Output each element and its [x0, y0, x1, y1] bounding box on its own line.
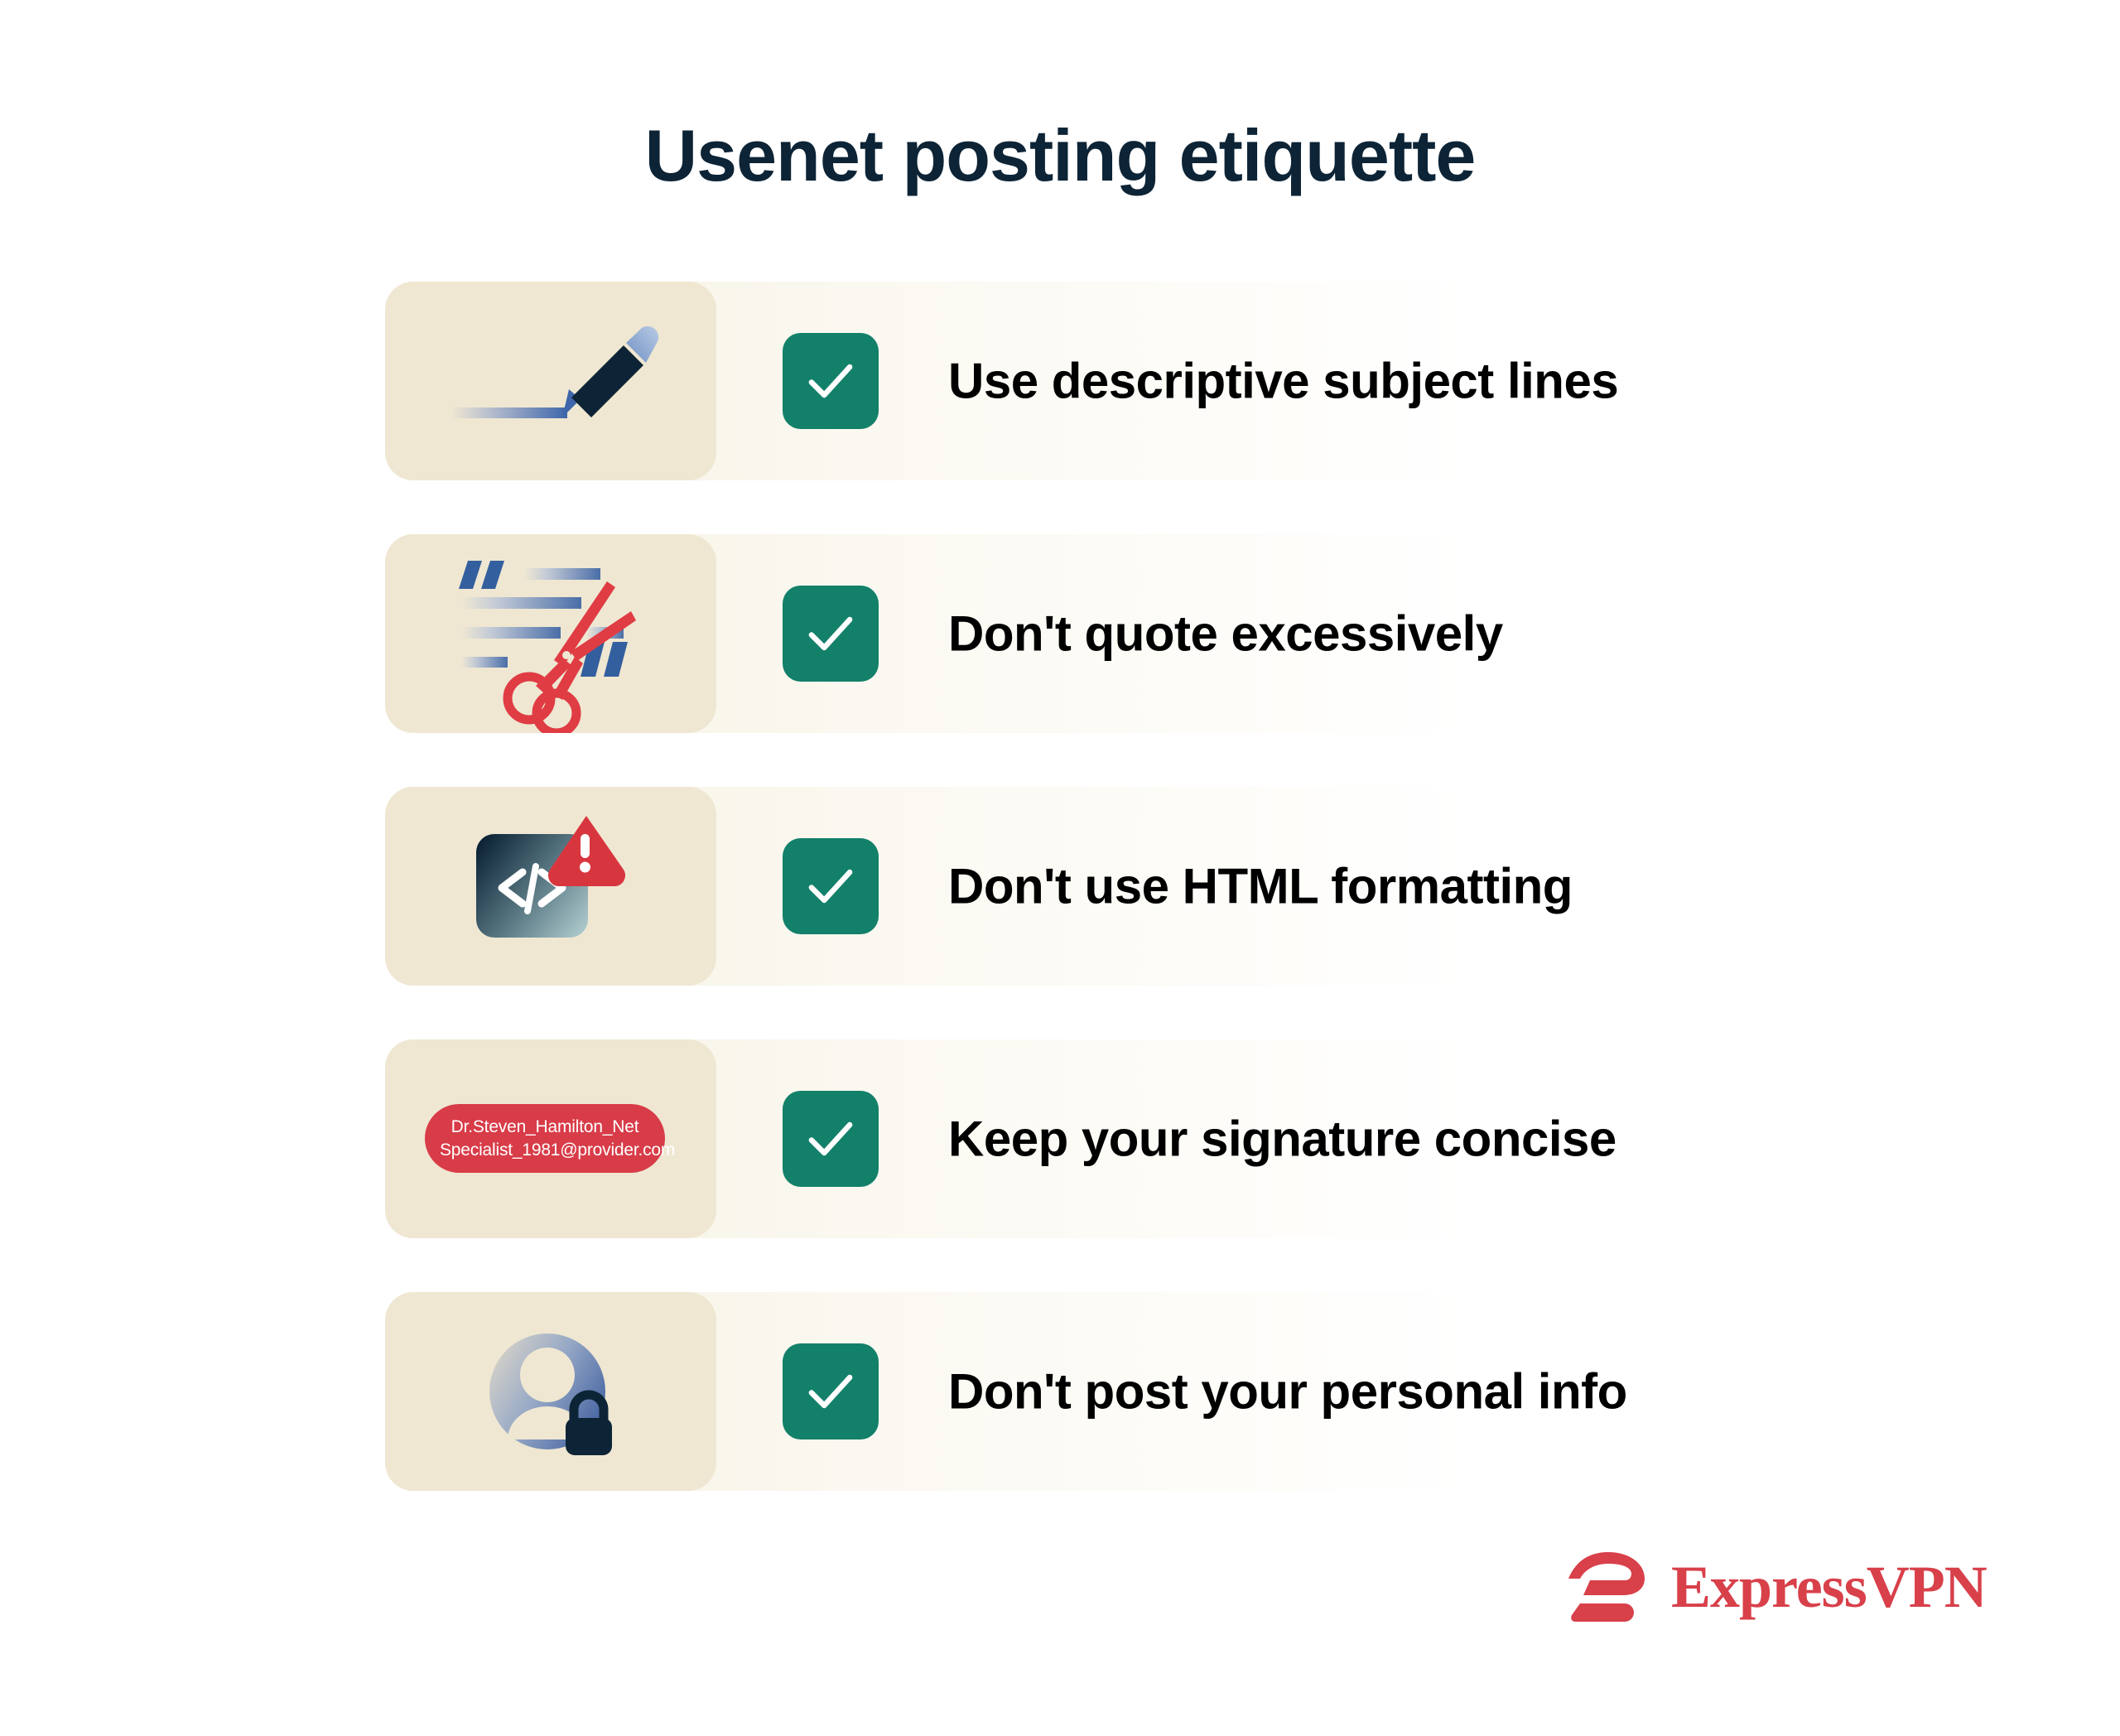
expressvpn-logo: ExpressVPN	[1565, 1547, 1987, 1627]
icon-panel	[385, 1292, 716, 1491]
checkmark-icon	[783, 1343, 879, 1439]
icon-panel	[385, 534, 716, 733]
icon-panel	[385, 787, 716, 986]
scissors-cutting-quotes-icon	[385, 534, 716, 733]
expressvpn-e-mark-icon	[1565, 1547, 1653, 1627]
list-item: Use descriptive subject lines	[385, 282, 1710, 480]
icon-panel	[385, 282, 716, 480]
signature-pill-icon: Dr.Steven_Hamilton_Net Specialist_1981@p…	[425, 1104, 665, 1173]
checkmark-icon	[783, 333, 879, 429]
infographic-canvas: Usenet posting etiquette	[0, 0, 2120, 1736]
list-item-label: Keep your signature concise	[948, 1111, 1616, 1168]
list-item: Don't post your personal info	[385, 1292, 1710, 1491]
list-item-label: Use descriptive subject lines	[948, 353, 1618, 410]
pencil-writing-icon	[385, 282, 716, 480]
page-title: Usenet posting etiquette	[0, 116, 2120, 196]
icon-panel: Dr.Steven_Hamilton_Net Specialist_1981@p…	[385, 1039, 716, 1238]
list-item-label: Don't use HTML formatting	[948, 858, 1573, 915]
checkmark-icon	[783, 586, 879, 682]
checkmark-icon	[783, 1091, 879, 1187]
list-item-label: Don't quote excessively	[948, 605, 1503, 663]
list-item: Don't quote excessively	[385, 534, 1710, 733]
list-item-label: Don't post your personal info	[948, 1363, 1627, 1420]
signature-line-1: Dr.Steven_Hamilton_Net	[440, 1116, 650, 1139]
person-lock-icon	[385, 1292, 716, 1491]
list-item: Dr.Steven_Hamilton_Net Specialist_1981@p…	[385, 1039, 1710, 1238]
list-item: Don't use HTML formatting	[385, 787, 1710, 986]
checkmark-icon	[783, 838, 879, 934]
signature-line-2: Specialist_1981@provider.com	[440, 1139, 650, 1162]
brand-name: ExpressVPN	[1671, 1557, 1987, 1617]
code-warning-icon	[385, 787, 716, 986]
etiquette-list: Use descriptive subject lines	[385, 282, 1710, 1545]
